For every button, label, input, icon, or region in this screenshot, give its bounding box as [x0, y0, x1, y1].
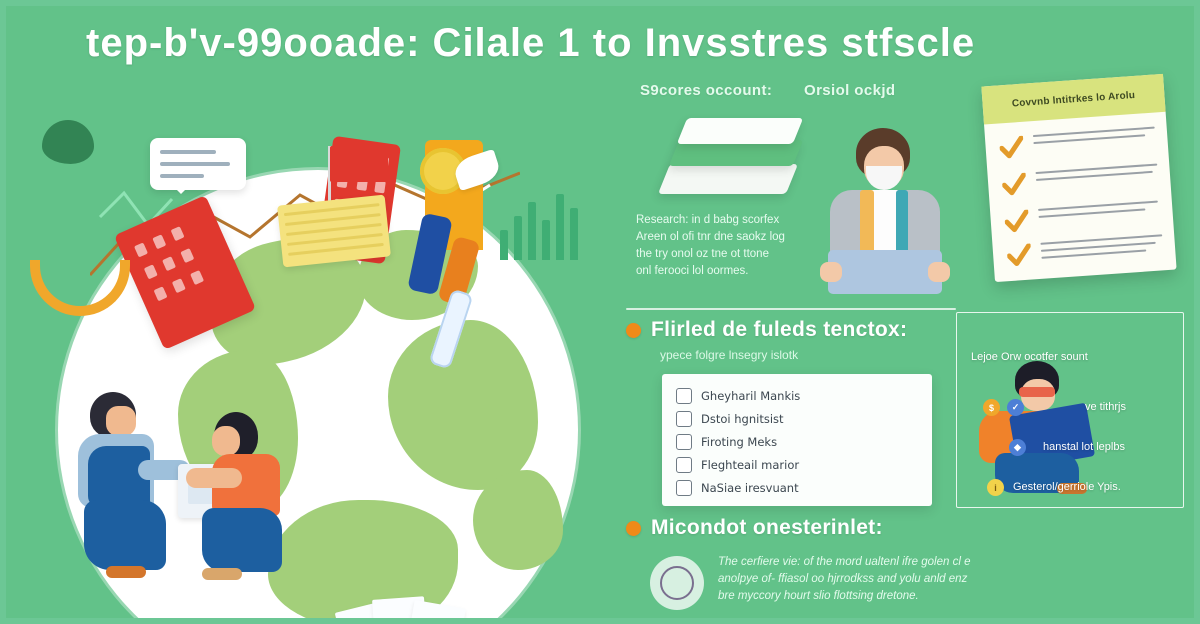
rules-heading-label: Flirled de fuleds tenctox:: [651, 318, 907, 342]
check-icon: [999, 136, 1024, 160]
checkbox[interactable]: [676, 434, 692, 450]
landmass: [473, 470, 563, 570]
glasses-icon: [1019, 387, 1055, 397]
checklist-item[interactable]: Dstoi hgnitsist: [676, 407, 918, 430]
money-stack-icon: [277, 195, 391, 268]
checklist-item[interactable]: Firoting Meks: [676, 430, 918, 453]
right-content-column: S9cores occount: Orsiol ockjd Research: …: [618, 70, 1200, 624]
person-scarf: [860, 190, 874, 256]
checklist-item-label: Dstoi hgnitsist: [701, 412, 784, 426]
circle-outline-icon: [650, 556, 704, 610]
infographic-canvas: tep-b'v-99ooade: Cilale 1 to Invsstres s…: [0, 0, 1200, 624]
face-mask-icon: [866, 166, 902, 190]
bullet-dot: [626, 521, 641, 536]
person-shoe: [106, 566, 146, 578]
person-legs: [84, 500, 166, 570]
person-shoe: [202, 568, 242, 580]
newspaper-icon: [340, 580, 470, 624]
left-illustration: [0, 60, 620, 624]
section-heading-left: S9cores occount:: [640, 82, 772, 99]
checklist-item-label: Gheyharil Mankis: [701, 389, 800, 403]
rules-heading: Flirled de fuleds tenctox:: [626, 318, 907, 342]
document-text-lines: [1033, 127, 1156, 149]
two-people-with-laptop: [62, 380, 352, 620]
person-with-laptop-illustration: [814, 128, 954, 298]
checklist-card: Gheyharil Mankis Dstoi hgnitsist Firotin…: [662, 374, 932, 506]
person-scarf: [896, 190, 908, 254]
document-text-lines: [1038, 200, 1161, 222]
bar-chart-icon: [500, 180, 610, 260]
note-body-line: The cerfiere vie: of the mord ualtenl if…: [718, 554, 1018, 571]
book-stack-icon: [656, 112, 796, 212]
note-body-line: bre myccory hourt slio flottsing dretone…: [718, 588, 1018, 605]
person-legs: [202, 508, 282, 572]
description-paragraph: Research: in d babg scorfex Areen ol ofi…: [636, 212, 826, 280]
person-with-laptop-illustration: [975, 357, 1105, 487]
laptop-icon: [828, 250, 942, 294]
checklist-item-label: Fleghteail marior: [701, 458, 799, 472]
panel-line: Lejoe Orw ocotfer sount: [971, 351, 1088, 363]
person-hand: [820, 262, 842, 282]
person-face: [212, 426, 240, 456]
note-heading-label: Micondot onesterinlet:: [651, 516, 883, 540]
checkbox[interactable]: [676, 457, 692, 473]
note-body: The cerfiere vie: of the mord ualtenl if…: [718, 554, 1018, 605]
check-icon: [1007, 244, 1032, 268]
document-row: [999, 123, 1157, 166]
landmass: [388, 320, 538, 490]
document-row: [1006, 230, 1164, 281]
panel-line: ve tithrjs: [1085, 401, 1126, 413]
check-icon: [1004, 210, 1029, 234]
checklist-item[interactable]: Fleghteail marior: [676, 453, 918, 476]
tree-icon: [42, 120, 94, 164]
paragraph-line: Areen ol ofi tnr dne saokz log: [636, 229, 826, 246]
panel-line: hanstal lot leplbs: [1043, 441, 1125, 453]
flag-icon: [330, 146, 388, 182]
paragraph-line: Research: in d babg scorfex: [636, 212, 826, 229]
panel-line: Gesterol/gerriole Ypis.: [1013, 481, 1121, 493]
section-divider: [626, 308, 956, 310]
document-row: [1001, 160, 1159, 203]
check-icon: [1002, 173, 1027, 197]
person-face: [106, 406, 136, 436]
checkbox[interactable]: [676, 411, 692, 427]
checklist-item-label: Firoting Meks: [701, 435, 777, 449]
shield-icon: ✓: [1007, 399, 1024, 416]
checkbox[interactable]: [676, 480, 692, 496]
dollar-coin-icon: $: [983, 399, 1000, 416]
document-header-label: Covvnb lntitrkes lo Arolu: [1011, 89, 1135, 109]
person-hand: [928, 262, 950, 282]
checklist-document: Covvnb lntitrkes lo Arolu: [981, 74, 1176, 282]
paragraph-line: the try onol oz tne ot ttone: [636, 246, 826, 263]
speech-bubble-icon: [150, 138, 246, 190]
paragraph-line: onl ferooci lol oormes.: [636, 263, 826, 280]
shield-icon: ◆: [1009, 439, 1026, 456]
checklist-item[interactable]: NaSiae iresvuant: [676, 476, 918, 499]
section-heading-right: Orsiol ockjd: [804, 82, 896, 99]
checklist-item-label: NaSiae iresvuant: [701, 481, 799, 495]
document-text-lines: [1040, 234, 1163, 263]
bullet-dot: [626, 323, 641, 338]
note-heading: Micondot onesterinlet:: [626, 516, 883, 540]
document-text-lines: [1035, 164, 1158, 186]
side-panel: Lejoe Orw ocotfer sount $ ve tithrjs ✓ ◆…: [956, 312, 1184, 508]
lightbulb-icon: i: [987, 479, 1004, 496]
person-arm: [186, 468, 242, 488]
note-body-line: anolpye of- ffiasol oo hjrrodkss and yol…: [718, 571, 1018, 588]
rules-subheading: ypece folgre lnsegry islotk: [660, 348, 798, 362]
checklist-item[interactable]: Gheyharil Mankis: [676, 384, 918, 407]
checkbox[interactable]: [676, 388, 692, 404]
